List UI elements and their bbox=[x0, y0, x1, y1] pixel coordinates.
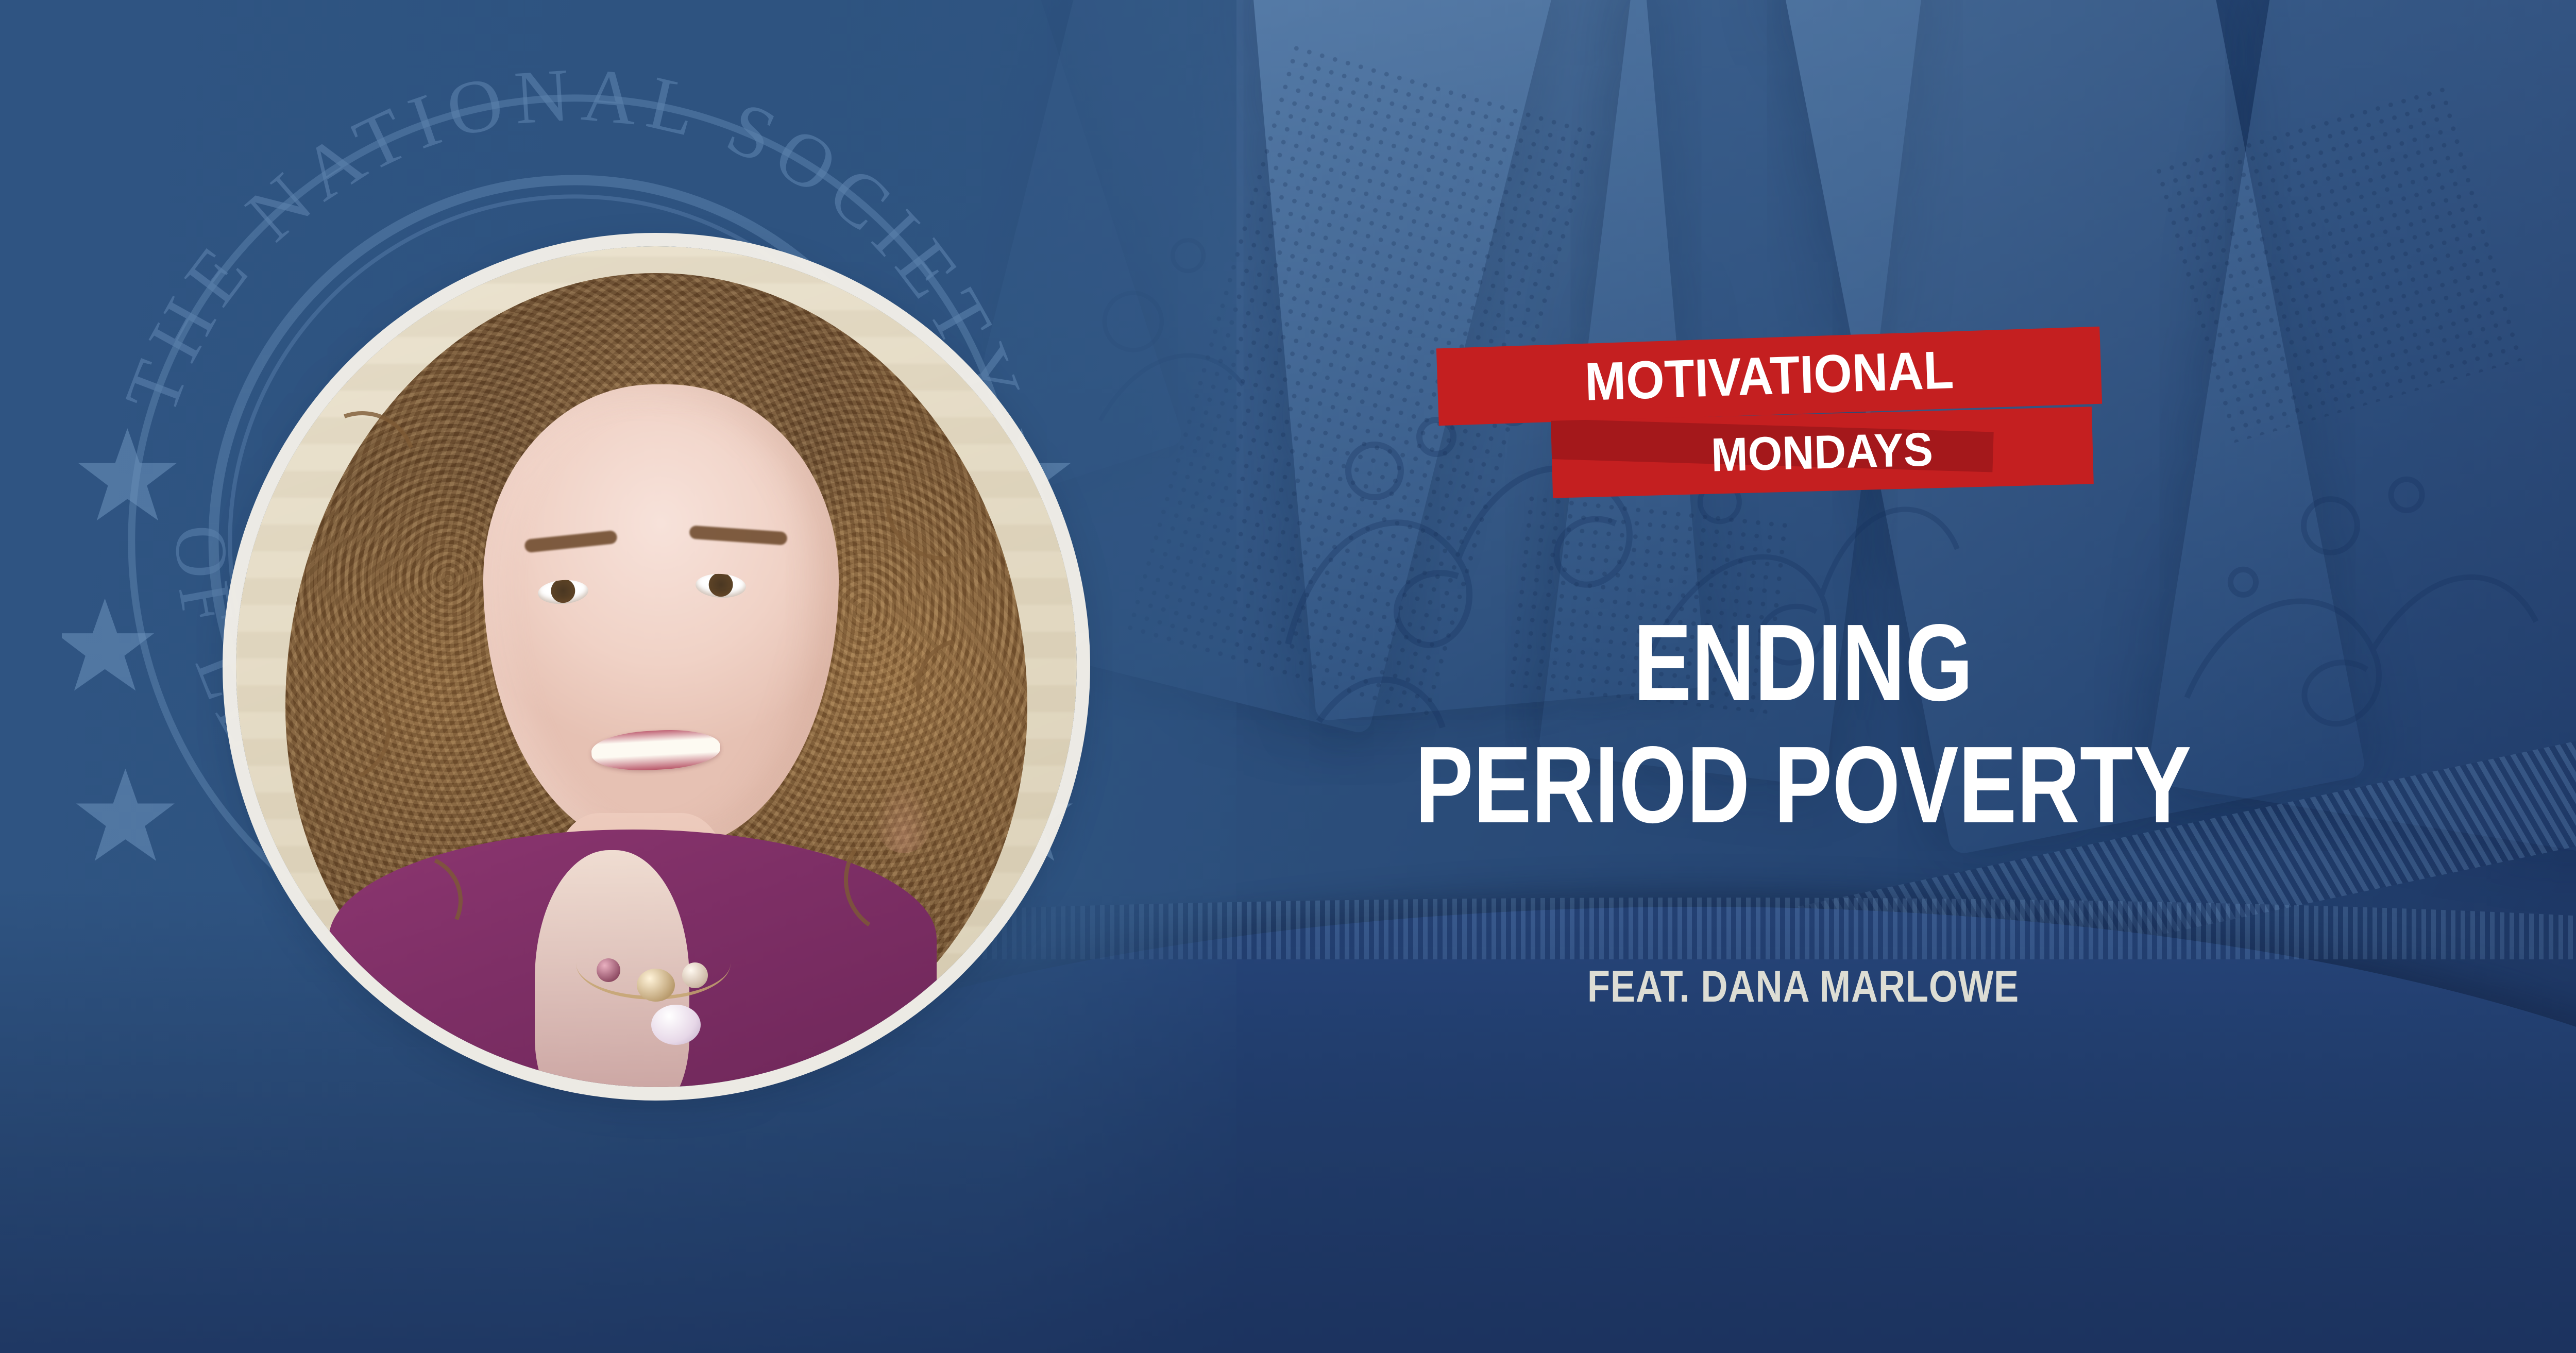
necklace-bead bbox=[597, 958, 620, 982]
page-title: ENDING PERIOD POVERTY bbox=[1108, 611, 2499, 837]
promo-graphic: THE NATIONAL SOCIETY OF LEADERSHIP AND S… bbox=[0, 0, 2576, 1353]
seal-stars-left bbox=[62, 428, 177, 861]
necklace-bead bbox=[682, 962, 708, 988]
speaker-portrait bbox=[236, 246, 1077, 1087]
badge-mondays-label: MONDAYS bbox=[1711, 426, 1934, 479]
content-column: MOTIVATIONAL MONDAYS ENDING PERIOD POVER… bbox=[1108, 0, 2499, 1353]
headline-line-2: PERIOD POVERTY bbox=[1247, 733, 2360, 836]
headline-line-1: ENDING bbox=[1247, 611, 2360, 714]
avatar bbox=[236, 246, 1077, 1087]
featured-speaker-label: FEAT. DANA MARLOWE bbox=[1587, 961, 2019, 1012]
necklace-pendant bbox=[651, 1005, 701, 1045]
badge-motivational-label: MOTIVATIONAL bbox=[1584, 343, 1954, 409]
featured-speaker-line: FEAT. DANA MARLOWE bbox=[1108, 961, 2499, 1012]
badge-mondays: MONDAYS bbox=[1551, 407, 2094, 498]
necklace-bead bbox=[637, 969, 675, 1002]
